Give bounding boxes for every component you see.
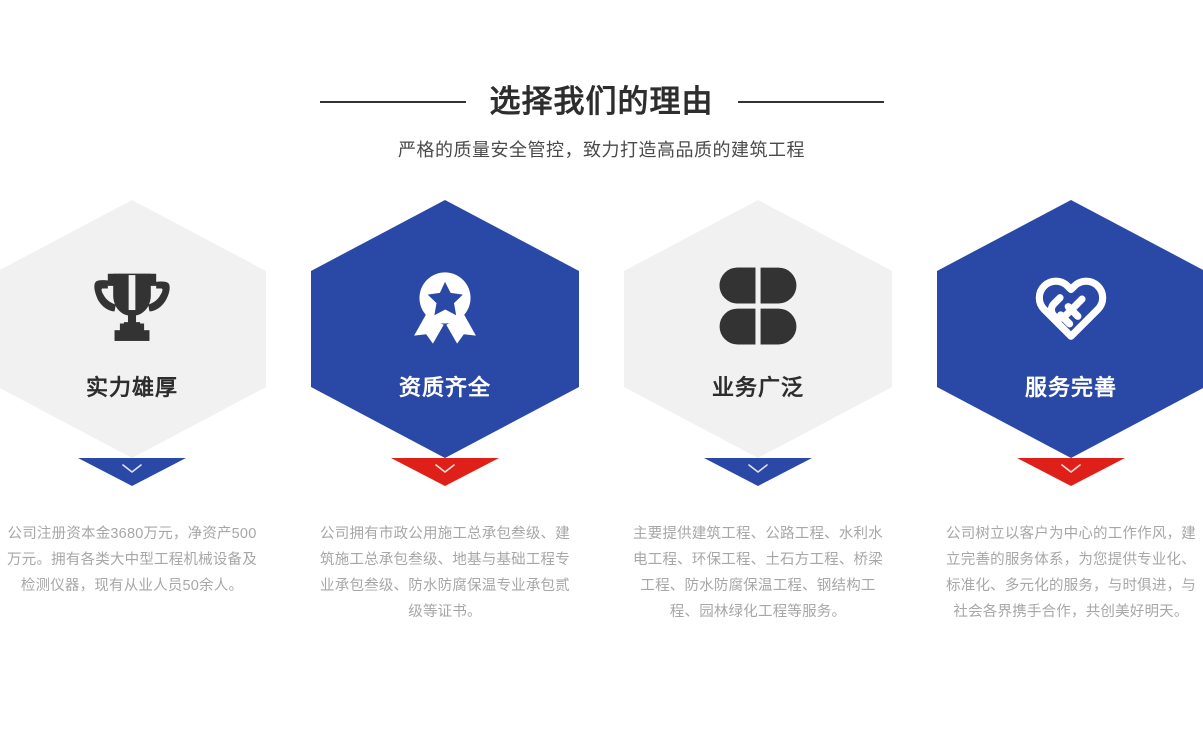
feature-card-service[interactable]: 服务完善 公司树立以客户为中心的工作作风，建立完善的服务体系，为您提供专业化、标… — [937, 200, 1203, 625]
hexagon-wrapper: 服务完善 — [937, 200, 1203, 485]
hexagon-wrapper: 实力雄厚 — [0, 200, 266, 485]
chevron-down-icon — [434, 463, 456, 475]
card-description: 公司拥有市政公用施工总承包叁级、建筑施工总承包叁级、地基与基础工程专业承包叁级、… — [319, 521, 571, 625]
card-description: 主要提供建筑工程、公路工程、水利水电工程、环保工程、土石方工程、桥梁工程、防水防… — [632, 521, 884, 625]
why-choose-us-section: 选择我们的理由 严格的质量安全管控，致力打造高品质的建筑工程 — [0, 0, 1203, 736]
title-row: 选择我们的理由 — [0, 80, 1203, 124]
section-header: 选择我们的理由 严格的质量安全管控，致力打造高品质的建筑工程 — [0, 80, 1203, 162]
card-title: 服务完善 — [1025, 370, 1117, 402]
page-title: 选择我们的理由 — [490, 80, 714, 124]
clover-icon — [710, 258, 806, 354]
card-pointer — [391, 458, 499, 486]
feature-card-business-scope[interactable]: 业务广泛 主要提供建筑工程、公路工程、水利水电工程、环保工程、土石方工程、桥梁工… — [624, 200, 892, 625]
card-pointer — [1017, 458, 1125, 486]
section-subtitle: 严格的质量安全管控，致力打造高品质的建筑工程 — [0, 136, 1203, 162]
chevron-down-icon — [1060, 463, 1082, 475]
card-description: 公司注册资本金3680万元，净资产500万元。拥有各类大中型工程机械设备及检测仪… — [6, 521, 258, 599]
feature-card-strength[interactable]: 实力雄厚 公司注册资本金3680万元，净资产500万元。拥有各类大中型工程机械设… — [0, 200, 266, 599]
hexagon-wrapper: 资质齐全 — [311, 200, 579, 485]
card-title: 实力雄厚 — [86, 370, 178, 402]
card-title: 资质齐全 — [399, 370, 491, 402]
divider-left — [320, 101, 466, 103]
card-description: 公司树立以客户为中心的工作作风，建立完善的服务体系，为您提供专业化、标准化、多元… — [945, 521, 1197, 625]
hexagon-shape: 资质齐全 — [311, 200, 579, 458]
chevron-down-icon — [121, 463, 143, 475]
trophy-icon — [84, 258, 180, 354]
chevron-down-icon — [747, 463, 769, 475]
card-title: 业务广泛 — [712, 370, 804, 402]
divider-right — [738, 101, 884, 103]
card-pointer — [78, 458, 186, 486]
feature-card-list: 实力雄厚 公司注册资本金3680万元，净资产500万元。拥有各类大中型工程机械设… — [0, 200, 1203, 680]
hexagon-shape: 实力雄厚 — [0, 200, 266, 458]
medal-star-icon — [397, 258, 493, 354]
hexagon-shape: 业务广泛 — [624, 200, 892, 458]
feature-card-qualification[interactable]: 资质齐全 公司拥有市政公用施工总承包叁级、建筑施工总承包叁级、地基与基础工程专业… — [311, 200, 579, 625]
hexagon-shape: 服务完善 — [937, 200, 1203, 458]
hexagon-wrapper: 业务广泛 — [624, 200, 892, 485]
heart-handshake-icon — [1023, 258, 1119, 354]
card-pointer — [704, 458, 812, 486]
